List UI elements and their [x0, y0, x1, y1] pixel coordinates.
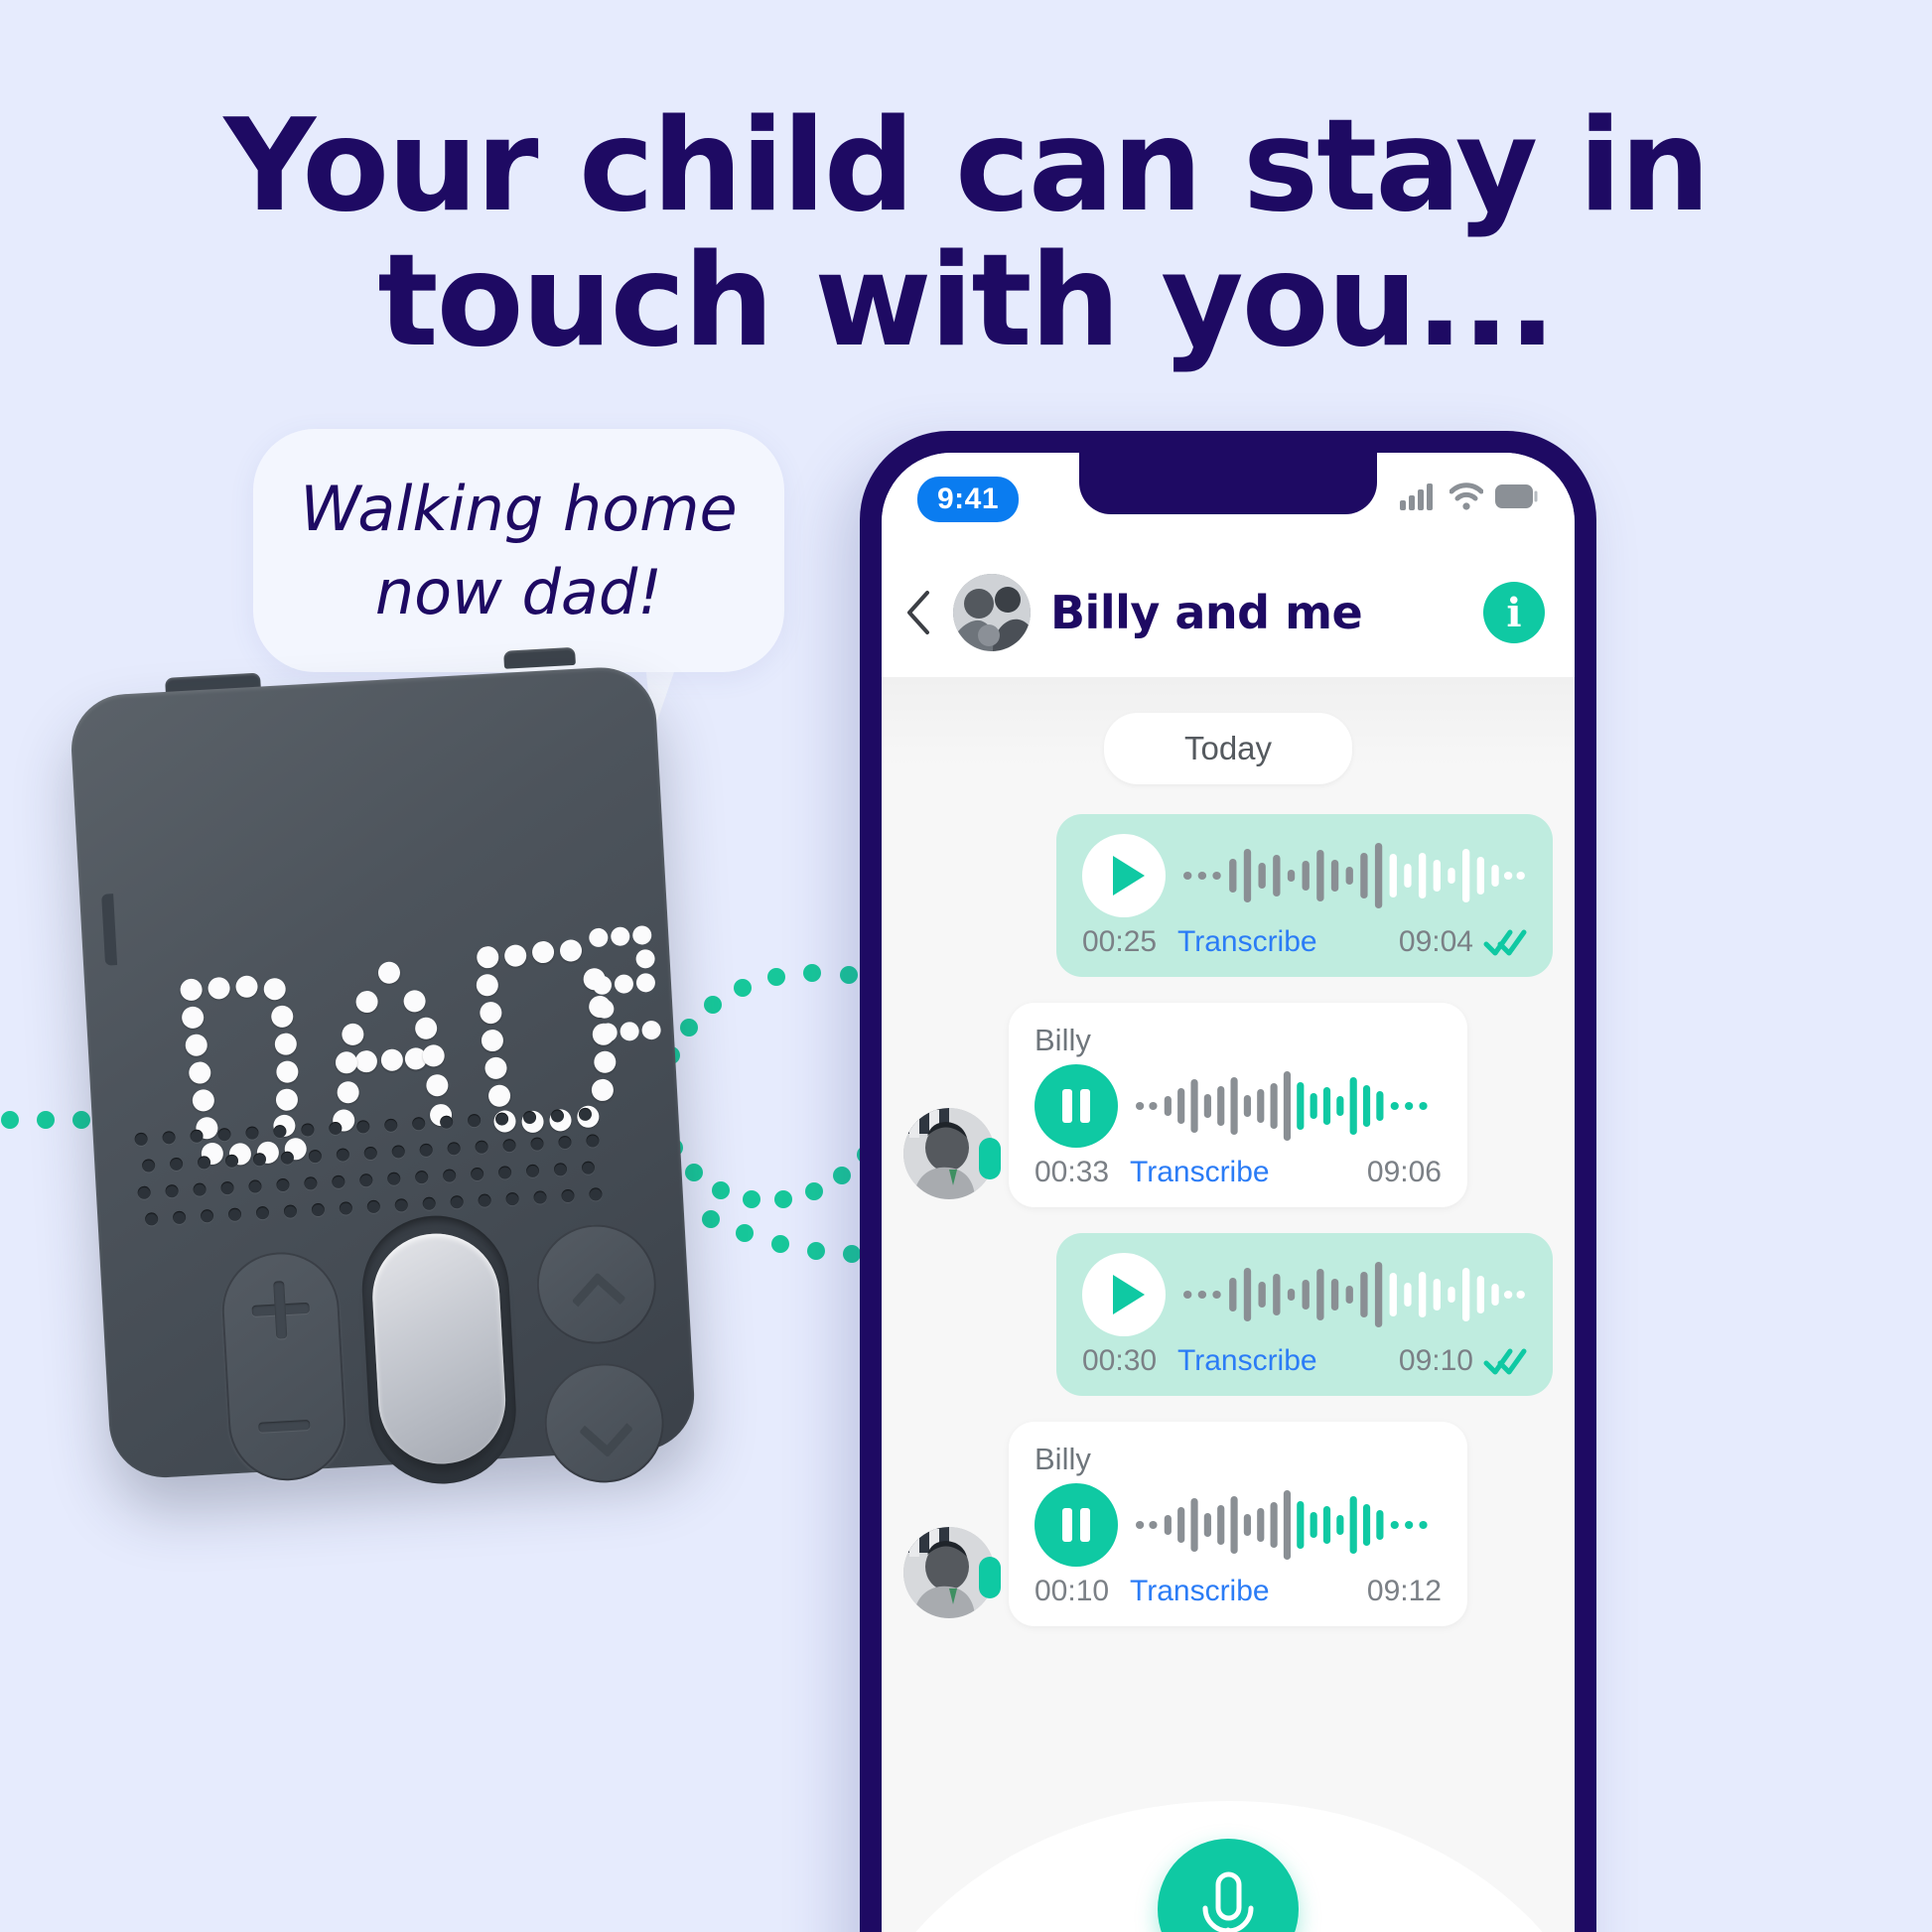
speaker-grill-dot: [478, 1193, 491, 1207]
speech-bubble-line-1: Walking home: [300, 473, 737, 545]
transcribe-link[interactable]: Transcribe: [1177, 1344, 1317, 1378]
speaker-grill-dot: [228, 1207, 242, 1221]
pause-icon[interactable]: [1035, 1064, 1118, 1148]
transcribe-link[interactable]: Transcribe: [1177, 925, 1317, 959]
speaker-grill-dot: [356, 1120, 370, 1134]
voice-message-bubble[interactable]: 00:30 Transcribe 09:10: [1056, 1233, 1553, 1396]
speaker-grill-dot: [170, 1158, 184, 1172]
voice-message-bubble[interactable]: Billy: [1009, 1422, 1467, 1626]
transcribe-link[interactable]: Transcribe: [1130, 1156, 1270, 1189]
device-top-nub-right: [503, 647, 576, 669]
speaker-grill-dot: [498, 1166, 512, 1179]
message-sender: Billy: [1035, 1442, 1442, 1477]
message-timestamp: 09:10: [1399, 1344, 1473, 1378]
speaker-grill-dot: [450, 1195, 464, 1209]
speaker-grill-dot: [468, 1114, 482, 1128]
speaker-grill-dot: [173, 1211, 187, 1225]
nav-up-button[interactable]: [534, 1221, 660, 1347]
message-timestamp: 09:04: [1399, 925, 1473, 959]
speaker-grill-dot: [475, 1140, 488, 1154]
phone-screen: 9:41: [882, 453, 1575, 1932]
speaker-grill-dot: [363, 1147, 377, 1161]
speaker-grill-dot: [248, 1179, 262, 1193]
speaker-grill-dot: [134, 1133, 148, 1147]
headline-line-2: touch with you...: [0, 234, 1932, 369]
speech-bubble-line-2: now dad!: [375, 556, 662, 628]
speaker-grill-dot: [201, 1209, 214, 1223]
chat-header: Billy and me i: [882, 548, 1575, 677]
speaker-grill-dot: [447, 1142, 461, 1156]
avatar[interactable]: [903, 1527, 995, 1618]
voice-message-bubble[interactable]: 00:25 Transcribe 09:04: [1056, 814, 1553, 977]
speaker-grill-dot: [530, 1137, 544, 1151]
status-time: 9:41: [917, 477, 1019, 522]
speaker-grill-dot: [366, 1200, 380, 1214]
message-duration: 00:25: [1082, 925, 1177, 959]
speaker-grill-dot: [505, 1192, 519, 1206]
device-body: [69, 664, 697, 1480]
speaker-grill-dot: [225, 1154, 239, 1168]
headline-line-1: Your child can stay in: [223, 92, 1708, 240]
speaker-grill-dot: [336, 1148, 349, 1162]
avatar[interactable]: [903, 1108, 995, 1199]
message-duration: 00:10: [1035, 1575, 1130, 1608]
phone-mockup: 9:41: [860, 431, 1596, 1932]
message-row: Billy: [903, 1422, 1553, 1626]
volume-up-icon-vertical: [273, 1281, 287, 1339]
speaker-grill-dot: [142, 1159, 156, 1173]
message-row: 00:30 Transcribe 09:10: [903, 1233, 1553, 1396]
speaker-grill-dot: [579, 1108, 593, 1122]
avatar[interactable]: [953, 574, 1031, 651]
read-receipt-icon: [1483, 928, 1527, 956]
message-row: 00:25 Transcribe 09:04: [903, 814, 1553, 977]
speaker-grill-dot: [304, 1176, 318, 1190]
online-badge: [979, 1557, 1001, 1598]
device-side-button[interactable]: [101, 894, 117, 966]
speaker-grill-dot: [329, 1122, 343, 1136]
speaker-grill-dot: [340, 1201, 353, 1215]
message-sender: Billy: [1035, 1023, 1442, 1058]
chevron-up-icon: [574, 1269, 620, 1314]
speaker-grill-dot: [589, 1187, 603, 1201]
speaker-grill-dot: [412, 1117, 426, 1131]
speaker-grill-dot: [561, 1189, 575, 1203]
speaker-grill-dot: [256, 1206, 270, 1220]
back-chevron-icon[interactable]: [903, 590, 933, 635]
speaker-grill-dot: [312, 1203, 326, 1217]
speaker-grill-dot: [309, 1150, 323, 1164]
message-duration: 00:30: [1082, 1344, 1177, 1378]
speaker-grill-dot: [526, 1165, 540, 1178]
speaker-grill-dot: [502, 1139, 516, 1153]
speaker-grill-dot: [495, 1112, 509, 1126]
speaker-grill-dot: [551, 1109, 565, 1123]
speaker-grill-dot: [415, 1171, 429, 1184]
play-icon[interactable]: [1082, 834, 1166, 917]
microphone-icon: [1193, 1868, 1263, 1932]
speaker-grill-dot: [137, 1185, 151, 1199]
speech-bubble: Walking home now dad!: [253, 429, 784, 672]
speaker-grill-dot: [284, 1204, 298, 1218]
chat-body[interactable]: Today: [882, 677, 1575, 1932]
pause-icon[interactable]: [1035, 1483, 1118, 1567]
speaker-grill-dot: [162, 1131, 176, 1145]
speaker-grill-dot: [220, 1181, 234, 1195]
speaker-grill-dot: [443, 1169, 457, 1182]
page-headline: Your child can stay in touch with you...: [0, 99, 1932, 368]
speaker-grill-dot: [281, 1151, 295, 1165]
play-icon[interactable]: [1082, 1253, 1166, 1336]
speaker-grill-dot: [190, 1129, 204, 1143]
waveform[interactable]: [1183, 839, 1527, 912]
speaker-grill-dot: [198, 1156, 211, 1170]
speaker-grill-dot: [387, 1172, 401, 1185]
waveform[interactable]: [1183, 1258, 1527, 1331]
speaker-grill-dot: [422, 1196, 436, 1210]
speaker-grill-dot: [217, 1128, 231, 1142]
kids-phone-device: [37, 632, 737, 1492]
read-receipt-icon: [1483, 1347, 1527, 1375]
date-divider: Today: [1104, 713, 1352, 784]
speaker-grill-dot: [253, 1153, 267, 1167]
speaker-grill-dot: [391, 1145, 405, 1159]
speaker-grill-dot: [471, 1168, 484, 1181]
speaker-grill-dot: [554, 1163, 568, 1176]
speaker-grill-dot: [582, 1161, 596, 1174]
speaker-grill-dot: [440, 1115, 454, 1129]
message-timestamp: 09:06: [1367, 1156, 1442, 1189]
voice-message-bubble[interactable]: Billy: [1009, 1003, 1467, 1207]
page-title: Billy and me: [1050, 586, 1463, 639]
speaker-grill-dot: [394, 1198, 408, 1212]
message-timestamp: 09:12: [1367, 1575, 1442, 1608]
speaker-grill-dot: [523, 1111, 537, 1125]
waveform[interactable]: [1136, 1069, 1442, 1143]
transcribe-link[interactable]: Transcribe: [1130, 1575, 1270, 1608]
speaker-grill-dot: [533, 1190, 547, 1204]
speaker-grill-dot: [145, 1212, 159, 1226]
speaker-grill-dot: [273, 1125, 287, 1139]
speaker-grill-dot: [558, 1136, 572, 1150]
speaker-grill-dot: [245, 1126, 259, 1140]
message-row: Billy: [903, 1003, 1553, 1207]
phone-notch: [1079, 453, 1377, 514]
speaker-grill-dot: [332, 1175, 345, 1189]
cellular-signal-icon: [1400, 483, 1438, 510]
speaker-grill-dot: [384, 1118, 398, 1132]
speaker-grill-dot: [193, 1182, 207, 1196]
talk-button[interactable]: [369, 1230, 509, 1467]
chevron-down-icon: [582, 1408, 627, 1453]
speaker-grill-dot: [419, 1144, 433, 1158]
speaker-grill-dot: [359, 1173, 373, 1187]
volume-button[interactable]: [219, 1249, 349, 1483]
message-duration: 00:33: [1035, 1156, 1130, 1189]
speaker-grill-dot: [586, 1134, 600, 1148]
waveform[interactable]: [1136, 1488, 1442, 1562]
nav-down-button[interactable]: [541, 1360, 667, 1486]
speaker-grill-dot: [276, 1178, 290, 1192]
online-badge: [979, 1138, 1001, 1179]
speaker-grill-dot: [165, 1184, 179, 1198]
volume-down-icon: [258, 1420, 310, 1433]
battery-icon: [1495, 483, 1539, 509]
speaker-grill-dot: [301, 1123, 315, 1137]
wifi-icon: [1449, 483, 1483, 510]
info-icon[interactable]: i: [1483, 582, 1545, 643]
